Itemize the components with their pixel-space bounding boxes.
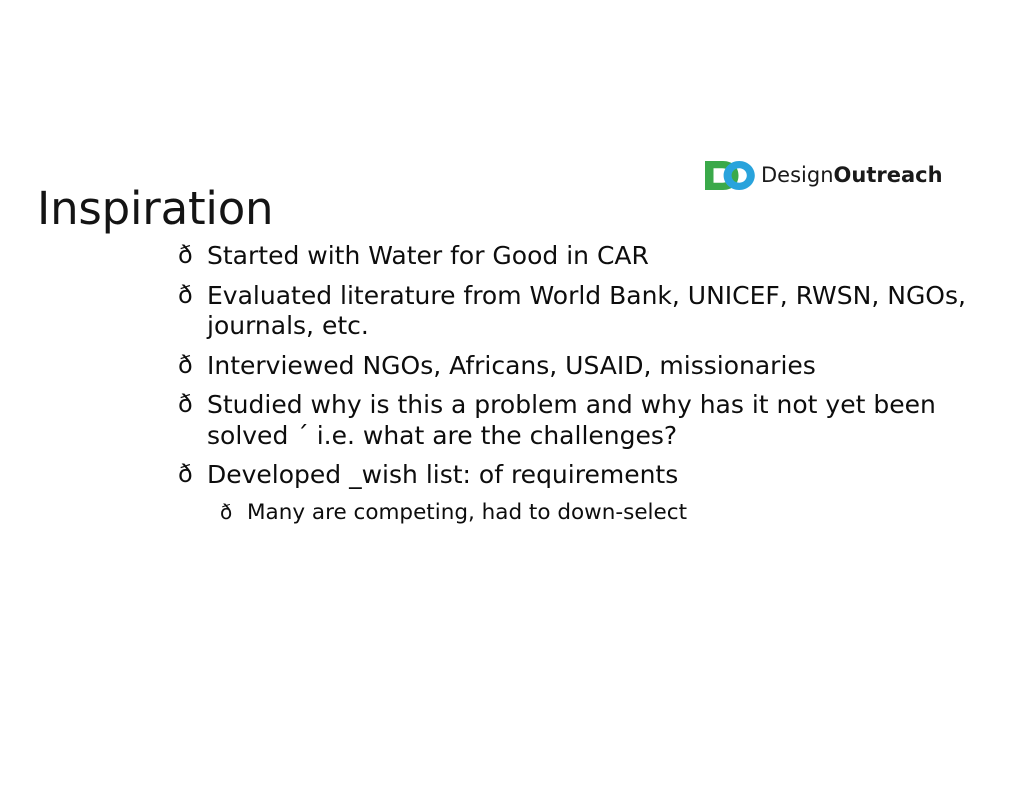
sub-list-item-text: Many are competing, had to down-select [247, 500, 968, 526]
list-item-text: Evaluated literature from World Bank, UN… [207, 281, 968, 342]
bullet-marker-icon: ð [178, 281, 207, 310]
logo-wordmark: DesignOutreach [761, 165, 943, 186]
designoutreach-logo-mark [703, 160, 757, 191]
bullet-marker-icon: ð [178, 460, 207, 489]
list-item: ð Evaluated literature from World Bank, … [178, 281, 968, 342]
list-item: ð Interviewed NGOs, Africans, USAID, mis… [178, 351, 968, 382]
logo-wordmark-design: Design [761, 163, 834, 187]
list-item-text: Studied why is this a problem and why ha… [207, 390, 968, 451]
logo-o-shape [724, 161, 755, 190]
list-item-text: Interviewed NGOs, Africans, USAID, missi… [207, 351, 968, 382]
list-item-text: Developed _wish list: of requirements [207, 460, 968, 491]
bullet-list: ð Started with Water for Good in CAR ð E… [178, 241, 968, 532]
bullet-marker-icon: ð [220, 500, 247, 524]
logo-wordmark-outreach: Outreach [834, 163, 943, 187]
list-item: ð Developed _wish list: of requirements [178, 460, 968, 491]
sub-list-item: ð Many are competing, had to down-select [220, 500, 968, 526]
list-item: ð Started with Water for Good in CAR [178, 241, 968, 272]
presentation-slide: Inspiration DesignOutreach ð Started wit… [0, 0, 1024, 791]
designoutreach-logo: DesignOutreach [703, 157, 943, 193]
bullet-marker-icon: ð [178, 241, 207, 270]
list-item-text: Started with Water for Good in CAR [207, 241, 968, 272]
bullet-marker-icon: ð [178, 351, 207, 380]
bullet-marker-icon: ð [178, 390, 207, 419]
page-title: Inspiration [37, 185, 273, 232]
list-item: ð Studied why is this a problem and why … [178, 390, 968, 451]
